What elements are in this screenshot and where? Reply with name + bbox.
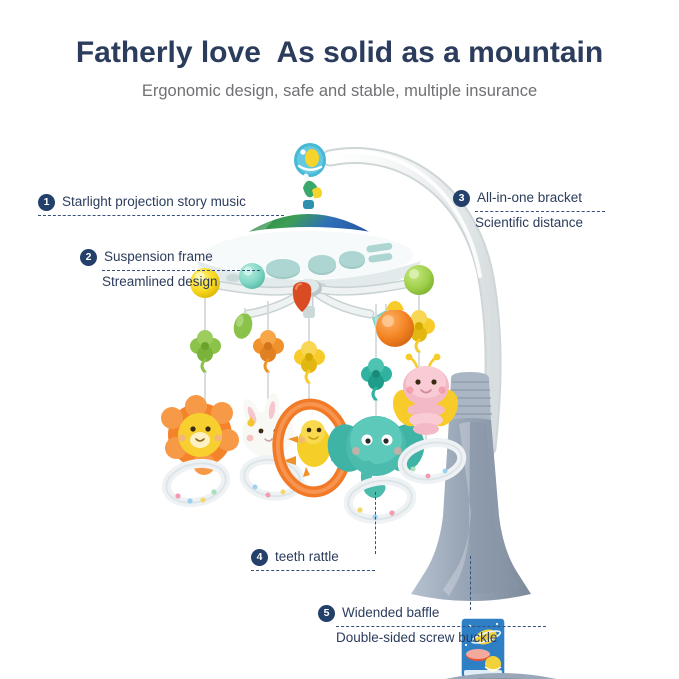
- callout-4-dashline: [251, 570, 375, 571]
- callout-1-row: 1 Starlight projection story music: [38, 194, 284, 211]
- callout-2-dashline: [102, 270, 260, 271]
- bead-ring-elephant: [346, 477, 415, 524]
- callout-3-row: 3 All-in-one bracket: [453, 190, 605, 207]
- callout-2-badge: 2: [80, 249, 97, 266]
- callout-2: 2 Suspension frame Streamlined design: [80, 249, 260, 291]
- callout-2-label: Suspension frame: [104, 249, 213, 266]
- page-title: Fatherly love As solid as a mountain: [0, 36, 679, 70]
- callout-5-leader-line: [470, 556, 471, 610]
- callout-1-badge: 1: [38, 194, 55, 211]
- hanging-toy-rabbit: [231, 301, 302, 500]
- callout-3-label: All-in-one bracket: [477, 190, 582, 207]
- callout-3-sublabel: Scientific distance: [453, 215, 605, 232]
- callout-2-row: 2 Suspension frame: [80, 249, 260, 266]
- callout-1: 1 Starlight projection story music: [38, 194, 284, 219]
- callout-3-dashline: [475, 211, 605, 212]
- callout-5-row: 5 Widended baffle: [318, 605, 546, 622]
- clover-bead-yellow: [294, 341, 325, 383]
- callout-4-leader-line: [375, 492, 376, 554]
- top-finial-ornament: [294, 143, 326, 209]
- clover-bead-teal: [361, 358, 392, 400]
- callout-1-dashline: [38, 215, 284, 216]
- callout-4-label: teeth rattle: [275, 549, 339, 566]
- page-subtitle: Ergonomic design, safe and stable, multi…: [0, 82, 679, 101]
- callout-1-label: Starlight projection story music: [62, 194, 246, 211]
- callout-5-badge: 5: [318, 605, 335, 622]
- accent-ball-orange: [376, 301, 414, 347]
- callout-5-dashline: [336, 626, 546, 627]
- callout-4-row: 4 teeth rattle: [251, 549, 375, 566]
- bead-ring-lion: [163, 458, 230, 508]
- callout-4-badge: 4: [251, 549, 268, 566]
- clover-bead-green: [190, 330, 221, 372]
- hanging-toy-lion: [161, 268, 239, 508]
- callout-3: 3 All-in-one bracket Scientific distance: [453, 190, 605, 232]
- callout-2-sublabel: Streamlined design: [80, 274, 260, 291]
- callout-5: 5 Widended baffle Double-sided screw buc…: [318, 605, 546, 647]
- header: Fatherly love As solid as a mountain Erg…: [0, 36, 679, 101]
- callout-4: 4 teeth rattle: [251, 549, 375, 574]
- callout-3-badge: 3: [453, 190, 470, 207]
- clamp-base: [441, 673, 561, 679]
- callout-5-sublabel: Double-sided screw buckle: [318, 630, 546, 647]
- clover-bead-orange: [253, 330, 284, 372]
- callout-5-label: Widended baffle: [342, 605, 439, 622]
